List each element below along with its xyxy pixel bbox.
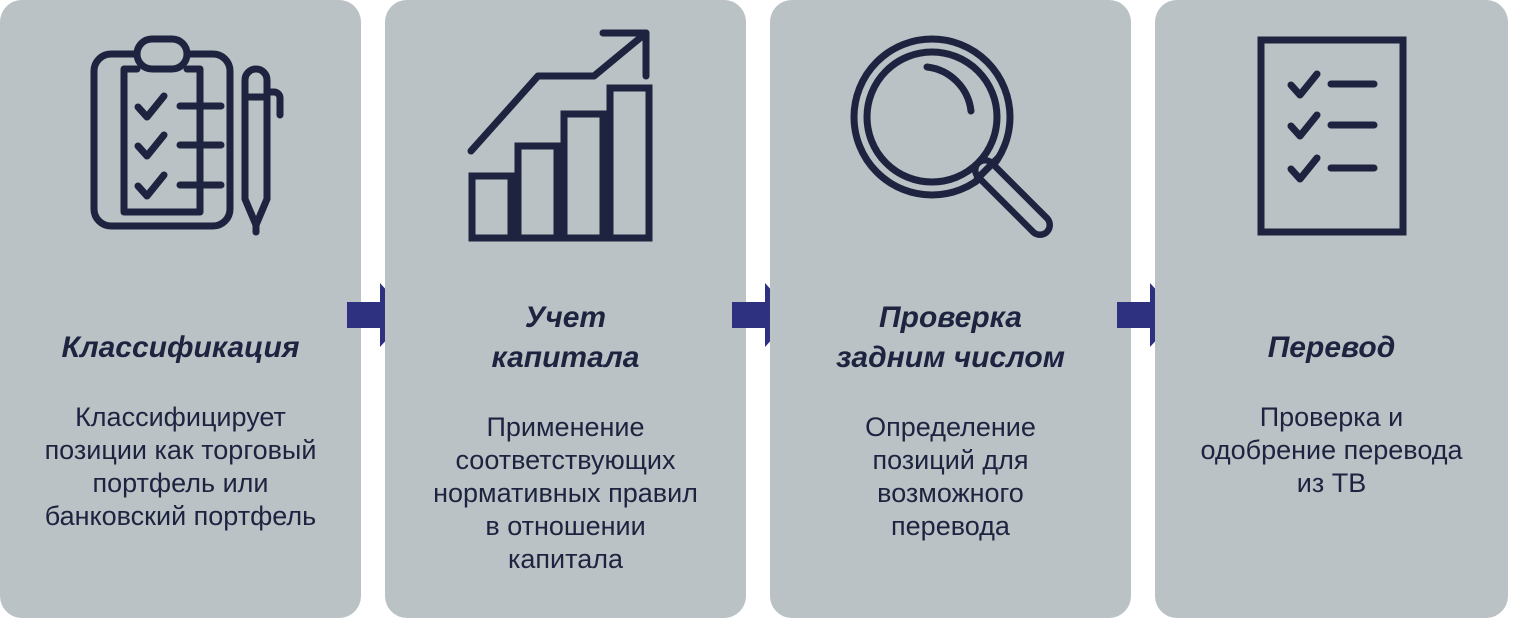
step-2-title: Учет капитала: [478, 298, 654, 378]
step-1-icon-wrap: [0, 0, 361, 272]
magnifying-glass-icon: [844, 29, 1058, 243]
step-4-description: Проверка и одобрение перевода из ТВ: [1190, 401, 1472, 500]
step-2-icon-wrap: [385, 0, 746, 272]
step-2-description: Применение соответствующих нормативных п…: [423, 411, 708, 576]
process-flow-diagram: Классификация Классифицирует позиции как…: [0, 0, 1520, 625]
step-panel-capital-treatment: Учет капитала Применение соответствующих…: [385, 0, 746, 618]
clipboard-checklist-pen-icon: [69, 31, 293, 241]
step-3-title: Проверка задним числом: [822, 298, 1079, 378]
step-1-description: Классифицирует позиции как торговый порт…: [35, 401, 327, 533]
step-panel-classification: Классификация Классифицирует позиции как…: [0, 0, 361, 618]
step-4-icon-wrap: [1155, 0, 1508, 272]
bar-chart-growth-arrow-icon: [466, 28, 666, 244]
step-1-title: Классификация: [48, 328, 314, 368]
step-3-description: Определение позиций для возможного перев…: [855, 411, 1046, 543]
document-checklist-icon: [1257, 36, 1407, 236]
step-panel-transfer: Перевод Проверка и одобрение перевода из…: [1155, 0, 1508, 618]
step-panel-backtesting: Проверка задним числом Определение позиц…: [770, 0, 1131, 618]
step-4-title: Перевод: [1254, 328, 1410, 368]
step-3-icon-wrap: [770, 0, 1131, 272]
